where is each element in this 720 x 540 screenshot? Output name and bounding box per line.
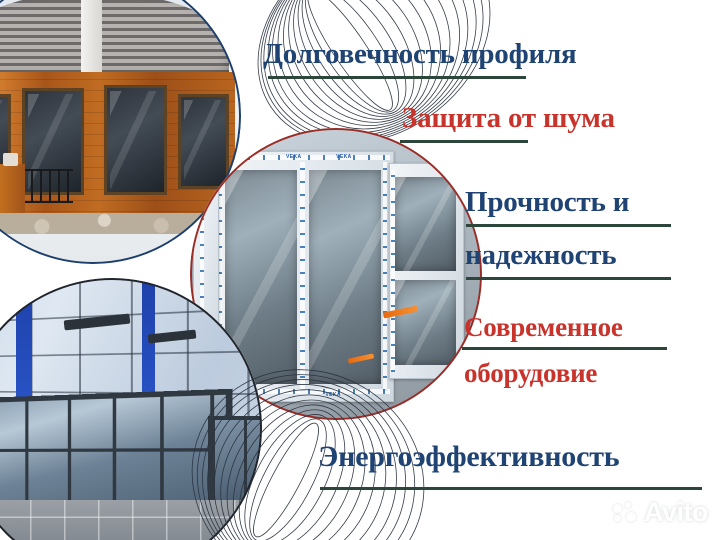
headline-underline-durability	[268, 76, 526, 79]
house-balcony-post	[0, 164, 25, 216]
house-lamp	[3, 153, 17, 166]
headline-underline-noise	[400, 140, 528, 143]
veka-brand-text: VEKA	[325, 392, 341, 398]
veka-protective-film	[383, 162, 387, 391]
headline-underline-strength	[466, 224, 671, 227]
house-roof	[0, 0, 229, 80]
headline-underline-energy	[320, 487, 702, 490]
window-glass-pane	[395, 280, 456, 366]
window-glass-pane	[395, 177, 456, 271]
poster-canvas: VEKA VEKA VEKA VEKA VEKA	[0, 0, 720, 540]
photo-building-facade	[0, 278, 262, 540]
headline-modern: Современное	[464, 312, 623, 343]
headline-underline-reliability	[466, 277, 671, 280]
headline-equipment: оборудовие	[464, 358, 597, 389]
veka-protective-film	[300, 162, 305, 391]
headline-underline-modern	[462, 347, 667, 350]
headline-noise-protection: Защита от шума	[402, 102, 615, 135]
window-glass-pane	[309, 170, 381, 384]
avito-wordmark: Avito	[644, 499, 708, 526]
house-window	[104, 85, 167, 196]
veka-protective-film	[391, 170, 395, 371]
headline-reliability: надежность	[465, 239, 616, 272]
pvc-window-unit-rear	[389, 163, 465, 379]
headline-strength: Прочность и	[465, 186, 629, 219]
veka-brand-text: VEKA	[336, 154, 352, 160]
avito-dots-logo-icon	[613, 502, 639, 524]
facade-granite-base	[0, 500, 262, 540]
veka-brand-text: VEKA	[236, 154, 252, 160]
headline-durability: Долговечность профиля	[263, 38, 577, 71]
veka-brand-text: VEKA	[286, 154, 302, 160]
headline-energy-efficiency: Энергоэффективность	[318, 440, 619, 474]
avito-watermark: Avito	[613, 499, 708, 526]
house-roof-ridge	[81, 0, 102, 75]
facade-storefront-glazing-right	[208, 416, 262, 506]
